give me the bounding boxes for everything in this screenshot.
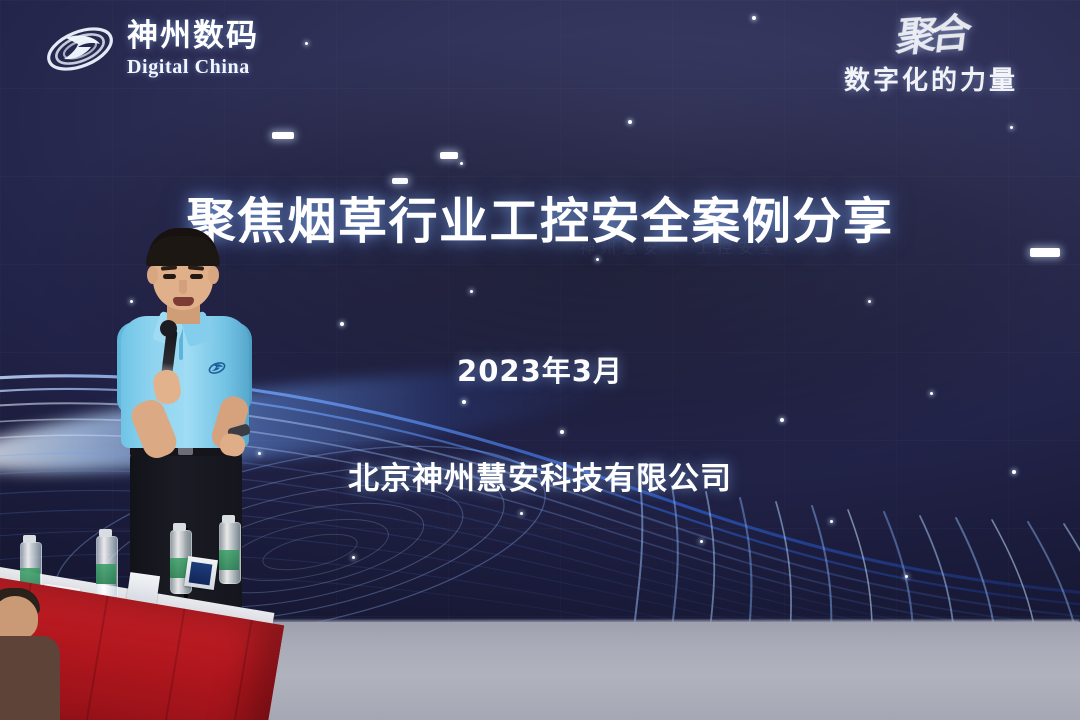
particle bbox=[628, 120, 632, 124]
particle bbox=[930, 392, 933, 395]
presenter-eye-left bbox=[163, 274, 176, 279]
particle bbox=[462, 400, 466, 404]
particle bbox=[830, 520, 833, 523]
brand-logo: 神州数码 Digital China bbox=[44, 18, 259, 80]
brand-name-cn: 神州数码 bbox=[127, 21, 259, 52]
particle bbox=[700, 540, 703, 543]
particle-dash bbox=[440, 152, 458, 159]
stage-photo: 神州数码 Digital China 聚合 数字化的力量 聚焦烟草行业工控安全案… bbox=[0, 0, 1080, 720]
brand-name-en: Digital China bbox=[127, 57, 259, 77]
particle bbox=[868, 300, 871, 303]
particle bbox=[305, 42, 308, 45]
particle bbox=[1010, 126, 1013, 129]
bottle-cap bbox=[173, 523, 186, 531]
particle bbox=[560, 430, 564, 434]
digital-china-swirl-logo-icon bbox=[44, 18, 116, 80]
particle bbox=[780, 418, 784, 422]
particle bbox=[752, 16, 756, 20]
drape-fold bbox=[226, 620, 253, 720]
bottle-label bbox=[219, 550, 239, 570]
slogan-calligraphy: 聚合 bbox=[894, 14, 968, 59]
bottle-cap bbox=[222, 515, 235, 523]
particle bbox=[905, 575, 908, 578]
seated-attendee-head bbox=[0, 596, 38, 640]
drape-fold bbox=[159, 609, 186, 720]
bottle-cap bbox=[99, 529, 112, 537]
slogan-subtitle: 数字化的力量 bbox=[806, 60, 1056, 97]
presenter-ear-left bbox=[147, 266, 158, 284]
presenter-mouth bbox=[173, 297, 194, 306]
presenter-nose bbox=[179, 280, 187, 294]
particle bbox=[352, 556, 355, 559]
particle bbox=[460, 162, 463, 165]
event-slogan: 聚合 数字化的力量 bbox=[806, 16, 1056, 97]
particle bbox=[340, 322, 344, 326]
presenter-eye-right bbox=[190, 274, 203, 279]
drape-fold bbox=[82, 596, 109, 720]
presenter-hair-front bbox=[146, 236, 220, 266]
bottle-label bbox=[96, 564, 116, 584]
seated-attendee-body bbox=[0, 636, 60, 720]
presenter-ear-right bbox=[208, 266, 219, 284]
particle bbox=[470, 290, 473, 293]
particle-dash bbox=[272, 132, 294, 139]
name-card-insert bbox=[189, 562, 213, 586]
presenter-shirt-logo-icon bbox=[208, 360, 226, 377]
bottle-cap bbox=[23, 535, 36, 543]
particle bbox=[520, 512, 523, 515]
particle bbox=[596, 258, 599, 261]
